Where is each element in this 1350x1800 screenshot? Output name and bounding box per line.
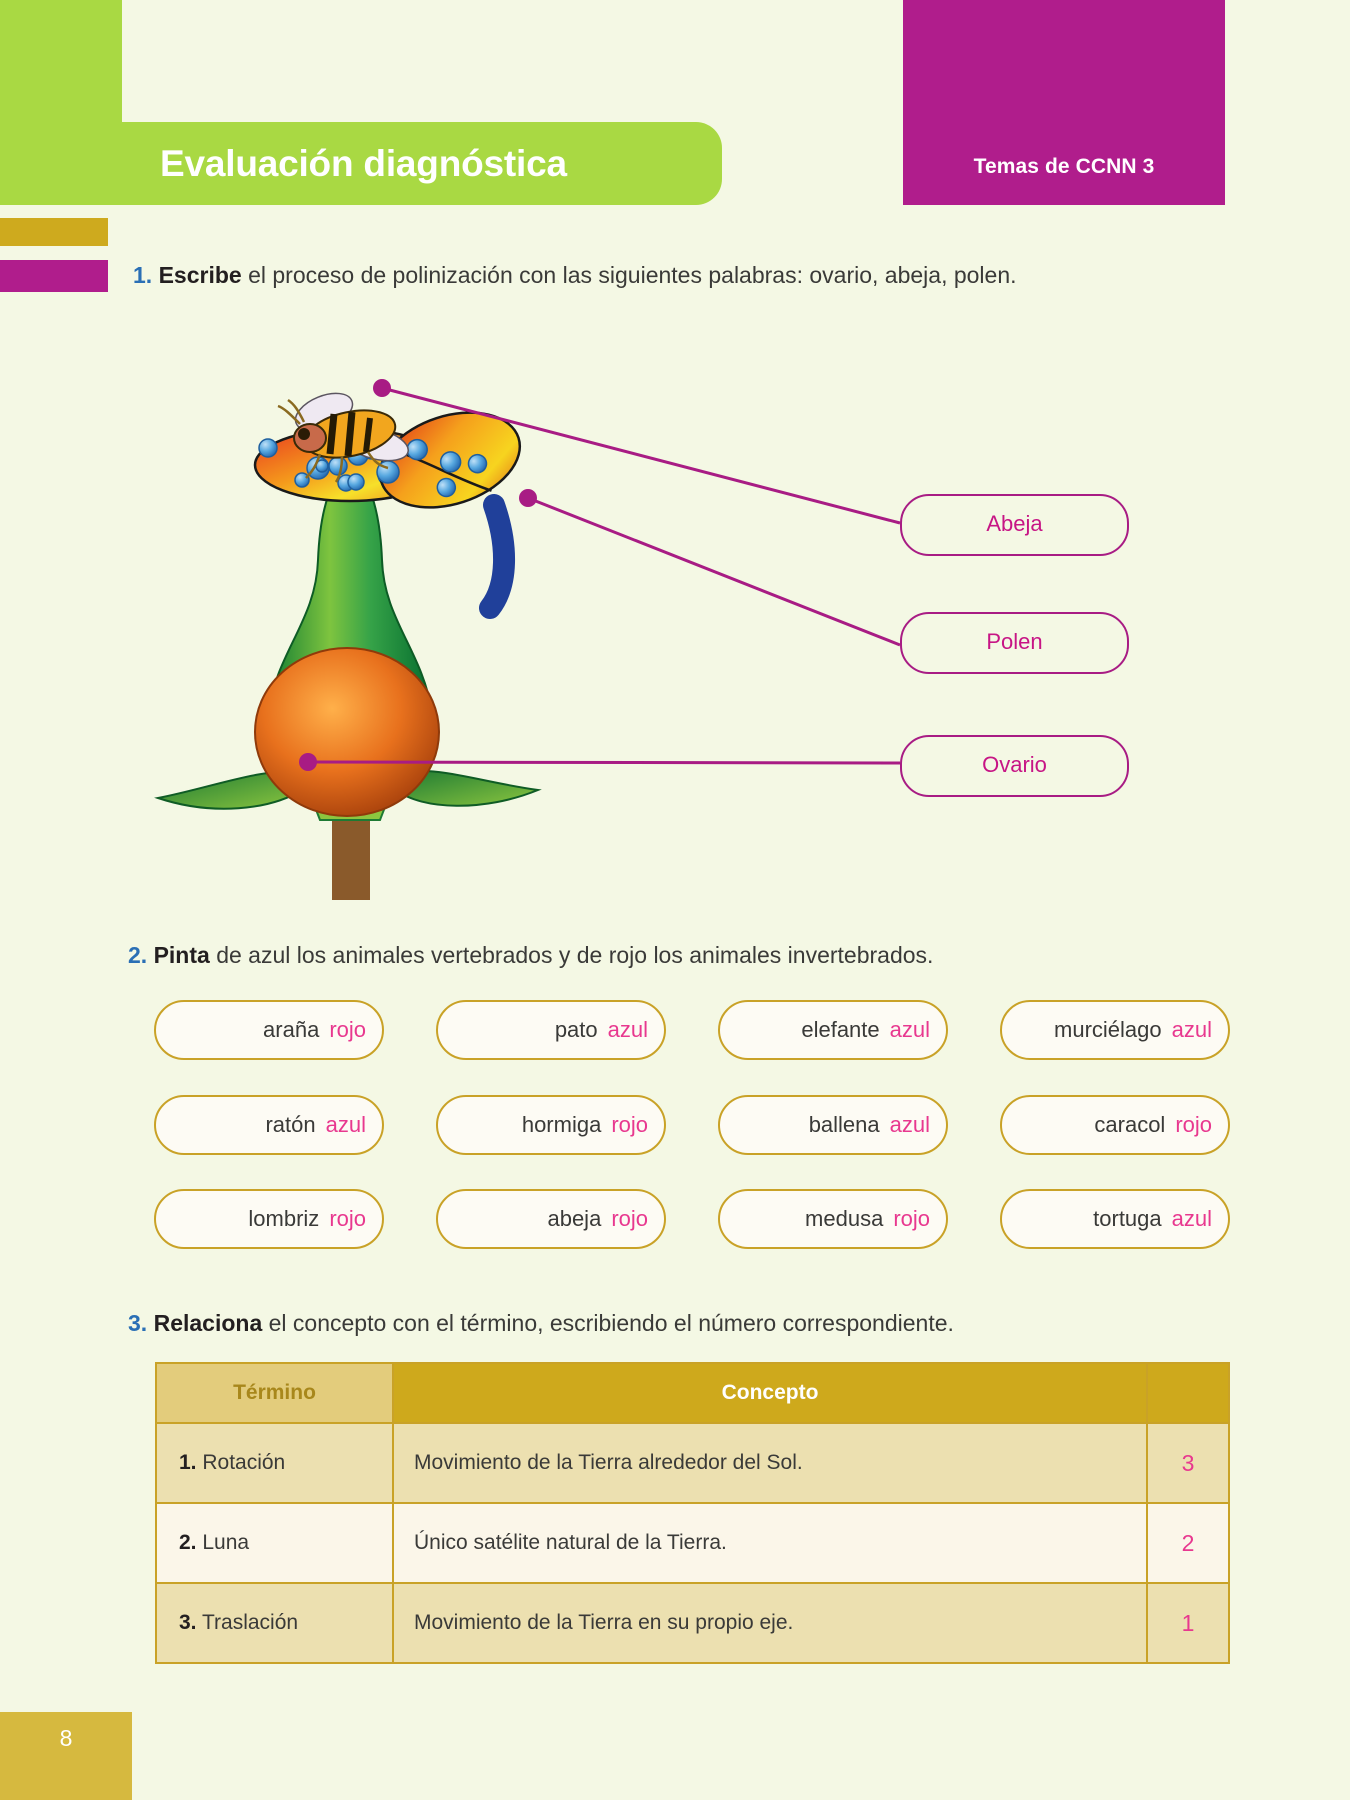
filament	[490, 505, 504, 608]
animal-pill-medusa[interactable]: medusa rojo	[718, 1189, 948, 1249]
animal-name: elefante	[801, 1017, 879, 1043]
book-label: Temas de CCNN 3	[903, 155, 1225, 179]
animal-answer: azul	[1172, 1206, 1212, 1232]
term-cell: 3. Traslación	[156, 1583, 393, 1663]
animal-pill-tortuga[interactable]: tortuga azul	[1000, 1189, 1230, 1249]
table-row: 3. Traslación Movimiento de la Tierra en…	[156, 1583, 1229, 1663]
ovary	[255, 648, 439, 816]
side-gold-tab	[0, 218, 108, 246]
question-1-text: el proceso de polinización con las sigui…	[242, 262, 1017, 288]
question-1: 1. Escribe el proceso de polinización co…	[133, 262, 1017, 289]
pollination-illustration	[150, 320, 550, 900]
animal-answer: rojo	[1175, 1112, 1212, 1138]
term-label: Traslación	[197, 1611, 299, 1634]
term-number: 1.	[179, 1451, 197, 1474]
animal-name: tortuga	[1093, 1206, 1162, 1232]
term-cell: 1. Rotación	[156, 1423, 393, 1503]
answer-cell[interactable]: 1	[1147, 1583, 1229, 1663]
animal-name: pato	[555, 1017, 598, 1043]
worksheet-page: Evaluación diagnóstica Temas de CCNN 3 1…	[0, 0, 1350, 1800]
animal-name: caracol	[1094, 1112, 1165, 1138]
animal-answer: azul	[608, 1017, 648, 1043]
column-header-answer	[1147, 1363, 1229, 1423]
animal-name: ratón	[265, 1112, 315, 1138]
term-label: Luna	[197, 1531, 250, 1554]
animal-answer: azul	[1172, 1017, 1212, 1043]
animal-answer: rojo	[611, 1206, 648, 1232]
table-header-row: Término Concepto	[156, 1363, 1229, 1423]
question-2: 2. Pinta de azul los animales vertebrado…	[128, 942, 933, 969]
callout-ovario[interactable]: Ovario	[900, 735, 1129, 797]
animal-pill-arana[interactable]: araña rojo	[154, 1000, 384, 1060]
term-number: 3.	[179, 1611, 197, 1634]
animal-name: abeja	[547, 1206, 601, 1232]
question-3-verb: Relaciona	[154, 1310, 263, 1336]
question-3-number: 3.	[128, 1310, 147, 1336]
animal-name: lombriz	[248, 1206, 319, 1232]
term-number: 2.	[179, 1531, 197, 1554]
animal-row-3: lombriz rojo abeja rojo medusa rojo tort…	[0, 1189, 1350, 1251]
page-number: 8	[0, 1725, 132, 1752]
answer-cell[interactable]: 2	[1147, 1503, 1229, 1583]
animal-pill-pato[interactable]: pato azul	[436, 1000, 666, 1060]
animal-pill-murcielago[interactable]: murciélago azul	[1000, 1000, 1230, 1060]
matching-table: Término Concepto 1. Rotación Movimiento …	[155, 1362, 1230, 1664]
animal-answer: azul	[890, 1112, 930, 1138]
animal-name: araña	[263, 1017, 319, 1043]
animal-answer: azul	[326, 1112, 366, 1138]
question-2-text: de azul los animales vertebrados y de ro…	[210, 942, 934, 968]
question-3-text: el concepto con el término, escribiendo …	[262, 1310, 954, 1336]
table-row: 2. Luna Único satélite natural de la Tie…	[156, 1503, 1229, 1583]
animal-pill-caracol[interactable]: caracol rojo	[1000, 1095, 1230, 1155]
callout-polen[interactable]: Polen	[900, 612, 1129, 674]
concept-cell: Movimiento de la Tierra en su propio eje…	[393, 1583, 1147, 1663]
animal-pill-ballena[interactable]: ballena azul	[718, 1095, 948, 1155]
question-3: 3. Relaciona el concepto con el término,…	[128, 1310, 954, 1337]
animal-answer: rojo	[611, 1112, 648, 1138]
animal-answer: azul	[890, 1017, 930, 1043]
animal-answer: rojo	[893, 1206, 930, 1232]
term-label: Rotación	[197, 1451, 286, 1474]
column-header-termino: Término	[156, 1363, 393, 1423]
animal-pill-raton[interactable]: ratón azul	[154, 1095, 384, 1155]
concept-cell: Único satélite natural de la Tierra.	[393, 1503, 1147, 1583]
animal-name: medusa	[805, 1206, 883, 1232]
callout-abeja[interactable]: Abeja	[900, 494, 1129, 556]
animal-row-1: araña rojo pato azul elefante azul murci…	[0, 1000, 1350, 1062]
animal-pill-abeja[interactable]: abeja rojo	[436, 1189, 666, 1249]
side-magenta-tab	[0, 260, 108, 292]
question-2-number: 2.	[128, 942, 147, 968]
column-header-concepto: Concepto	[393, 1363, 1147, 1423]
page-title: Evaluación diagnóstica	[160, 132, 705, 196]
animal-pill-lombriz[interactable]: lombriz rojo	[154, 1189, 384, 1249]
question-1-number: 1.	[133, 262, 152, 288]
table-row: 1. Rotación Movimiento de la Tierra alre…	[156, 1423, 1229, 1503]
answer-cell[interactable]: 3	[1147, 1423, 1229, 1503]
question-1-verb: Escribe	[159, 262, 242, 288]
animal-pill-elefante[interactable]: elefante azul	[718, 1000, 948, 1060]
animal-answer: rojo	[329, 1017, 366, 1043]
animal-row-2: ratón azul hormiga rojo ballena azul car…	[0, 1095, 1350, 1157]
term-cell: 2. Luna	[156, 1503, 393, 1583]
animal-name: hormiga	[522, 1112, 601, 1138]
animal-name: murciélago	[1054, 1017, 1162, 1043]
concept-cell: Movimiento de la Tierra alrededor del So…	[393, 1423, 1147, 1503]
animal-pill-hormiga[interactable]: hormiga rojo	[436, 1095, 666, 1155]
animal-answer: rojo	[329, 1206, 366, 1232]
animal-name: ballena	[809, 1112, 880, 1138]
question-2-verb: Pinta	[154, 942, 210, 968]
